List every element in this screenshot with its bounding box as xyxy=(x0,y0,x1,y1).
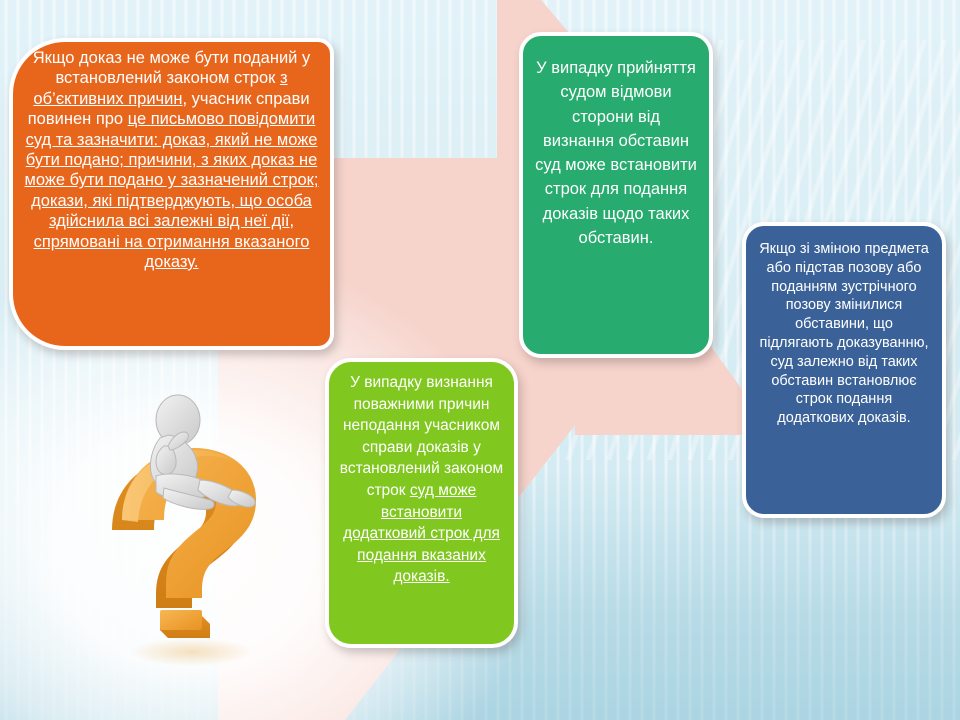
callout-orange-text: Якщо доказ не може бути поданий у встано… xyxy=(23,48,320,272)
callout-blue-text: Якщо зі зміною предмета або підстав позо… xyxy=(757,240,931,428)
callout-box-green[interactable]: У випадку прийняття судом відмови сторон… xyxy=(519,32,713,358)
callout-lime-text: У випадку визнання поважними причин непо… xyxy=(339,372,504,588)
slide-canvas: Якщо доказ не може бути поданий у встано… xyxy=(0,0,960,720)
thinking-figure-on-question-mark-icon xyxy=(60,380,360,680)
callout-green-text: У випадку прийняття судом відмови сторон… xyxy=(535,56,697,250)
callout-box-lime[interactable]: У випадку визнання поважними причин непо… xyxy=(325,358,518,648)
callout-box-blue[interactable]: Якщо зі зміною предмета або підстав позо… xyxy=(742,222,946,518)
callout-box-orange[interactable]: Якщо доказ не може бути поданий у встано… xyxy=(9,38,334,350)
